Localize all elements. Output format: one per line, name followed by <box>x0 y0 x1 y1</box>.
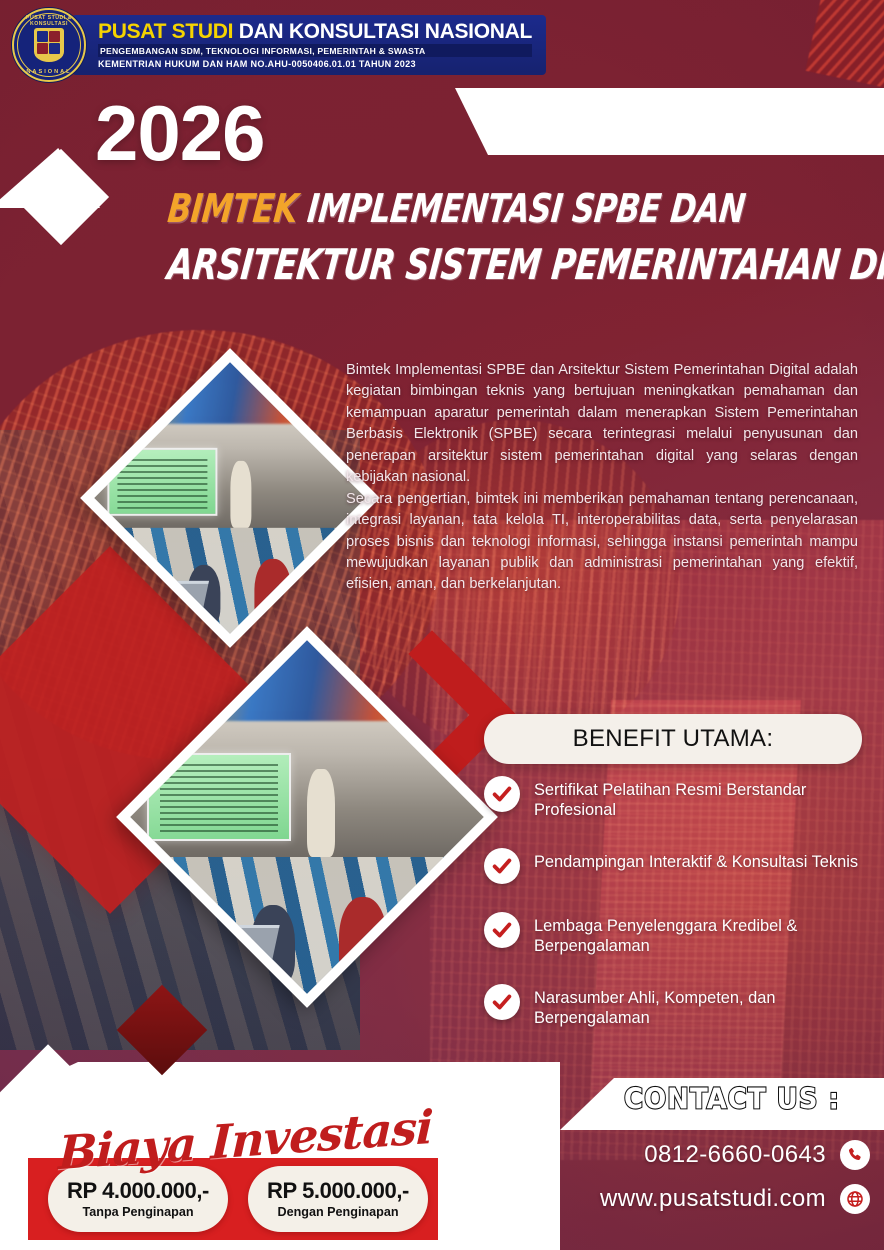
benefit-item: Pendampingan Interaktif & Konsultasi Tek… <box>484 848 884 884</box>
presenter-figure <box>230 461 252 529</box>
brand-name-highlight: PUSAT STUDI <box>98 20 233 43</box>
price-amount: RP 5.000.000,- <box>267 1179 409 1202</box>
event-description: Bimtek Implementasi SPBE dan Arsitektur … <box>346 360 858 596</box>
projector-screen <box>147 753 291 841</box>
benefit-item: Narasumber Ahli, Kompeten, dan Berpengal… <box>484 984 884 1028</box>
event-title-line-1: BIMTEK IMPLEMENTASI SPBE DAN <box>166 190 884 230</box>
event-title-highlight: BIMTEK <box>166 186 300 232</box>
price-option-badge[interactable]: RP 5.000.000,- Dengan Penginapan <box>248 1166 428 1232</box>
benefits-list: Sertifikat Pelatihan Resmi Berstandar Pr… <box>484 776 884 1056</box>
benefit-label: Lembaga Penyelenggara Kredibel & Berpeng… <box>534 912 884 956</box>
benefits-heading-pill: BENEFIT UTAMA: <box>484 714 862 764</box>
poster-canvas: PUSAT STUDI & KONSULTASI NASIONAL PUSAT … <box>0 0 884 1250</box>
benefit-item: Sertifikat Pelatihan Resmi Berstandar Pr… <box>484 776 884 820</box>
benefit-label: Pendampingan Interaktif & Konsultasi Tek… <box>534 848 858 872</box>
brand-name-rest: DAN KONSULTASI NASIONAL <box>233 20 532 43</box>
contact-website-value[interactable]: www.pusatstudi.com <box>600 1185 826 1213</box>
brand-header: PUSAT STUDI & KONSULTASI NASIONAL PUSAT … <box>12 10 477 80</box>
contact-website-row[interactable]: www.pusatstudi.com <box>540 1184 870 1214</box>
crest-block <box>49 31 60 42</box>
phone-icon <box>840 1140 870 1170</box>
check-icon <box>484 984 520 1020</box>
price-note: Tanpa Penginapan <box>82 1205 193 1219</box>
projector-screen <box>107 449 218 517</box>
white-banner-top-right <box>455 88 884 155</box>
event-title-line-1-rest: IMPLEMENTASI SPBE DAN <box>295 186 747 232</box>
description-paragraph-2: Secara pengertian, bimtek ini memberikan… <box>346 489 858 596</box>
benefit-item: Lembaga Penyelenggara Kredibel & Berpeng… <box>484 912 884 956</box>
seal-top-text: PUSAT STUDI & KONSULTASI <box>14 15 84 27</box>
benefit-label: Narasumber Ahli, Kompeten, dan Berpengal… <box>534 984 884 1028</box>
check-icon <box>484 912 520 948</box>
presenter-figure <box>307 769 335 857</box>
crest-block <box>37 31 48 42</box>
brand-name: PUSAT STUDI DAN KONSULTASI NASIONAL <box>98 21 532 43</box>
event-title: BIMTEK IMPLEMENTASI SPBE DAN ARSITEKTUR … <box>170 190 884 276</box>
check-icon <box>484 776 520 812</box>
contact-details: 0812-6660-0643 www.pusatstudi.com <box>540 1140 870 1228</box>
seal-bottom-text: NASIONAL <box>14 69 84 75</box>
brand-legal-registration: KEMENTRIAN HUKUM DAN HAM NO.AHU-0050406.… <box>98 59 532 69</box>
contact-phone-value[interactable]: 0812-6660-0643 <box>644 1141 826 1169</box>
brand-tagline: PENGEMBANGAN SDM, TEKNOLOGI INFORMASI, P… <box>98 44 532 57</box>
crest-block <box>49 43 60 54</box>
benefit-label: Sertifikat Pelatihan Resmi Berstandar Pr… <box>534 776 884 820</box>
crest-block <box>37 43 48 54</box>
contact-heading: CONTACT US : <box>624 1084 840 1116</box>
organization-seal-logo: PUSAT STUDI & KONSULTASI NASIONAL <box>12 8 86 82</box>
event-title-line-2: ARSITEKTUR SISTEM PEMERINTAHAN DIGITAL <box>166 243 884 285</box>
benefits-heading: BENEFIT UTAMA: <box>573 725 774 753</box>
event-year: 2026 <box>95 96 265 170</box>
check-icon <box>484 848 520 884</box>
description-paragraph-1: Bimtek Implementasi SPBE dan Arsitektur … <box>346 360 858 489</box>
contact-phone-row[interactable]: 0812-6660-0643 <box>540 1140 870 1170</box>
price-note: Dengan Penginapan <box>277 1205 398 1219</box>
globe-icon <box>840 1184 870 1214</box>
seal-crest-icon <box>34 28 64 62</box>
price-amount: RP 4.000.000,- <box>67 1179 209 1202</box>
brand-text-block: PUSAT STUDI DAN KONSULTASI NASIONAL PENG… <box>72 15 546 76</box>
